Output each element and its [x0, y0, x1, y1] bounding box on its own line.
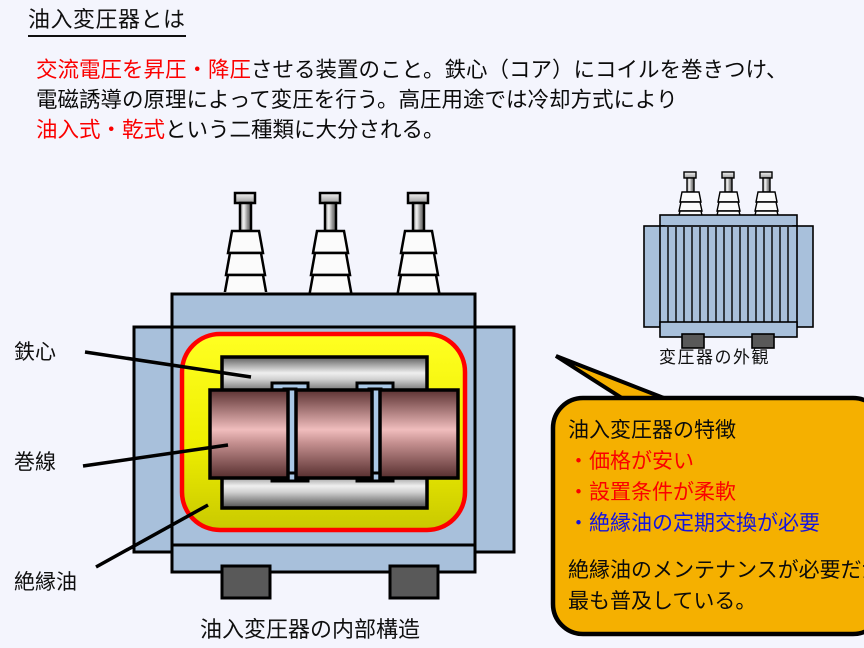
- callout-bullet-1: ・価格が安い: [568, 446, 864, 477]
- slide-canvas: 油入変圧器とは 交流電圧を昇圧・降圧させる装置のこと。鉄心（コア）にコイルを巻き…: [0, 0, 864, 648]
- tank-foot-1: [222, 566, 270, 598]
- external-base: [660, 322, 797, 337]
- external-bushing-2: [716, 172, 741, 220]
- callout-spacer: [568, 539, 864, 555]
- label-core: 鉄心: [14, 336, 56, 366]
- external-radiator-body: [660, 226, 797, 327]
- external-bushing-1: [678, 172, 703, 220]
- callout-footer-line-1: 絶縁油のメンテナンスが必要だが、: [568, 555, 864, 586]
- callout-bullet-2: ・設置条件が柔軟: [568, 477, 864, 508]
- tank-foot-2: [390, 566, 438, 598]
- callout-footer-line-2: 最も普及している。: [568, 586, 864, 617]
- callout-content: 油入変圧器の特徴 ・価格が安い ・設置条件が柔軟 ・絶縁油の定期交換が必要 絶縁…: [568, 415, 864, 617]
- label-winding: 巻線: [14, 446, 56, 476]
- bushing-group: [221, 193, 440, 297]
- winding-1: [210, 390, 288, 478]
- caption-internal-structure: 油入変圧器の内部構造: [200, 612, 420, 644]
- caption-external-appearance: 変圧器の外観: [659, 343, 770, 368]
- winding-3: [380, 390, 458, 478]
- winding-2: [296, 390, 372, 478]
- external-bushing-3: [754, 172, 779, 220]
- bushing-3: [397, 193, 440, 297]
- external-transformer: [644, 172, 813, 348]
- label-insulating-oil: 絶縁油: [14, 566, 77, 596]
- callout-heading: 油入変圧器の特徴: [568, 415, 864, 446]
- bushing-1: [221, 193, 270, 297]
- callout-bullet-3: ・絶縁油の定期交換が必要: [568, 508, 864, 539]
- bushing-2: [309, 193, 352, 297]
- cutaway-transformer: [83, 193, 514, 598]
